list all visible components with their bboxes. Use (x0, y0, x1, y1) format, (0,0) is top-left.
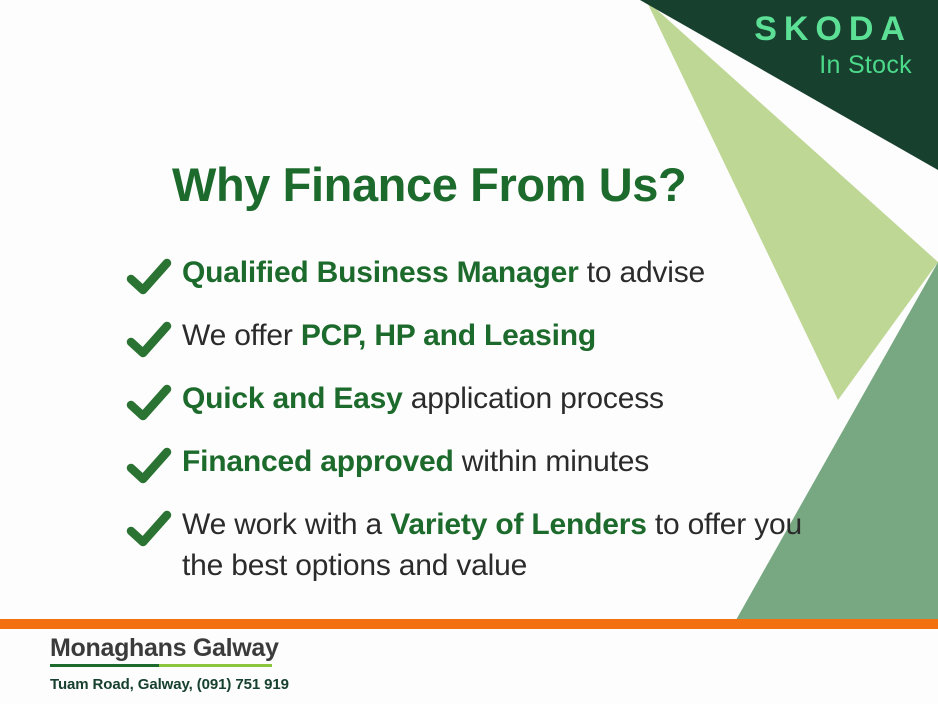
dealer-footer: Monaghans Galway Tuam Road, Galway, (091… (50, 634, 289, 693)
check-icon (126, 445, 172, 489)
list-item-lead: We work with a (182, 508, 390, 541)
page-title: Why Finance From Us? (172, 157, 686, 212)
list-item: Quick and Easy application process (126, 378, 826, 426)
list-item-text: We offer PCP, HP and Leasing (182, 315, 596, 356)
dealer-name: Monaghans Galway (50, 634, 279, 667)
list-item-rest: to advise (579, 256, 705, 289)
check-icon (126, 382, 172, 426)
list-item-emphasis: Financed approved (182, 445, 454, 478)
check-icon (126, 508, 172, 552)
list-item-text: Qualified Business Manager to advise (182, 252, 705, 293)
list-item-lead: We offer (182, 319, 301, 352)
list-item-text: Quick and Easy application process (182, 378, 664, 419)
list-item-emphasis: PCP, HP and Leasing (301, 319, 596, 352)
dealer-name-text: Monaghans Galway (50, 634, 279, 662)
benefits-list: Qualified Business Manager to advise We … (126, 252, 826, 601)
list-item-rest: within minutes (454, 445, 649, 478)
check-icon (126, 256, 172, 300)
list-item: We work with a Variety of Lenders to off… (126, 504, 826, 586)
brand-lockup: SKODA In Stock (754, 12, 912, 78)
list-item-text: We work with a Variety of Lenders to off… (182, 504, 826, 586)
promo-poster: SKODA In Stock Why Finance From Us? Qual… (0, 0, 938, 704)
dealer-address: Tuam Road, Galway, (091) 751 919 (50, 676, 289, 693)
list-item: Financed approved within minutes (126, 441, 826, 489)
footer-divider (0, 619, 938, 629)
list-item-emphasis: Variety of Lenders (390, 508, 647, 541)
list-item: Qualified Business Manager to advise (126, 252, 826, 300)
list-item-rest: application process (403, 382, 664, 415)
underline-segment-dark (50, 664, 159, 667)
underline-segment-light (159, 664, 272, 667)
list-item-text: Financed approved within minutes (182, 441, 649, 482)
dealer-name-underline (50, 664, 272, 667)
check-icon (126, 319, 172, 363)
list-item-emphasis: Qualified Business Manager (182, 256, 579, 289)
list-item-emphasis: Quick and Easy (182, 382, 403, 415)
in-stock-tagline: In Stock (754, 53, 912, 78)
list-item: We offer PCP, HP and Leasing (126, 315, 826, 363)
skoda-wordmark: SKODA (754, 12, 912, 46)
